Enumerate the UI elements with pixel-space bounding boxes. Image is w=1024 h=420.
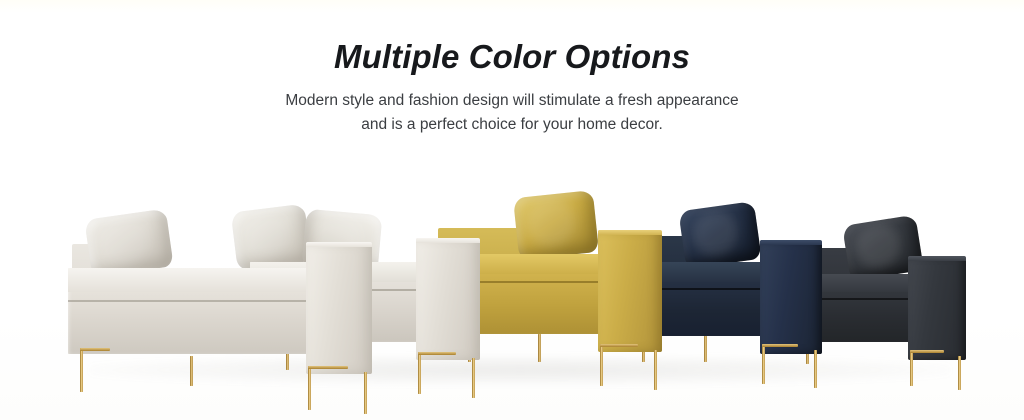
bench-arm-right: [416, 238, 480, 360]
brass-leg-bracket: [418, 352, 456, 355]
brass-leg: [910, 350, 913, 386]
brass-leg: [654, 350, 657, 390]
brass-leg: [80, 348, 83, 392]
brass-leg: [308, 366, 311, 410]
brass-leg: [762, 344, 765, 384]
brass-leg: [814, 350, 817, 388]
product-showcase-stage: Charcoal / Dark Gray Navy Blue: [0, 160, 1024, 420]
bench-arm-right: [306, 242, 372, 374]
banner-subtitle: Modern style and fashion design will sti…: [232, 89, 792, 136]
banner-subtitle-line-2: and is a perfect choice for your home de…: [232, 113, 792, 136]
bench-seat-base: [68, 268, 318, 354]
product-color-options-banner: Multiple Color Options Modern style and …: [0, 0, 1024, 420]
brass-leg: [600, 344, 603, 386]
brass-leg: [958, 356, 961, 390]
bench-arm-right: [760, 240, 822, 354]
brass-leg: [472, 358, 475, 398]
bench-pillow: [513, 190, 599, 260]
page-title: Multiple Color Options: [0, 36, 1024, 77]
brass-leg: [418, 352, 421, 394]
bench-arm-right: [908, 256, 966, 360]
arm-top-face: [416, 238, 480, 243]
arm-top-face: [908, 256, 966, 261]
bench-color-label: Mustard Yellow: [430, 186, 431, 187]
bench-arm-right: [598, 230, 662, 352]
brass-leg-bracket: [762, 344, 798, 347]
arm-top-face: [598, 230, 662, 235]
banner-text-block: Multiple Color Options Modern style and …: [0, 0, 1024, 136]
brass-leg: [364, 372, 367, 414]
bench-pillow: [678, 201, 761, 269]
banner-subtitle-line-1: Modern style and fashion design will sti…: [232, 89, 792, 112]
brass-leg-bracket: [600, 344, 638, 347]
arm-top-face: [760, 240, 822, 245]
brass-leg: [704, 336, 707, 362]
brass-leg-bracket: [308, 366, 348, 369]
brass-leg: [538, 334, 541, 362]
brass-leg-bracket: [910, 350, 944, 353]
brass-leg: [190, 356, 193, 386]
storage-lid-seam: [68, 300, 318, 302]
bench-variant-cream-1[interactable]: Beige / Cream: [58, 188, 388, 388]
brass-leg-bracket: [80, 348, 110, 351]
seat-top-face: [68, 268, 318, 292]
arm-top-face: [306, 242, 372, 247]
bench-color-label: Beige / Cream: [58, 188, 59, 189]
